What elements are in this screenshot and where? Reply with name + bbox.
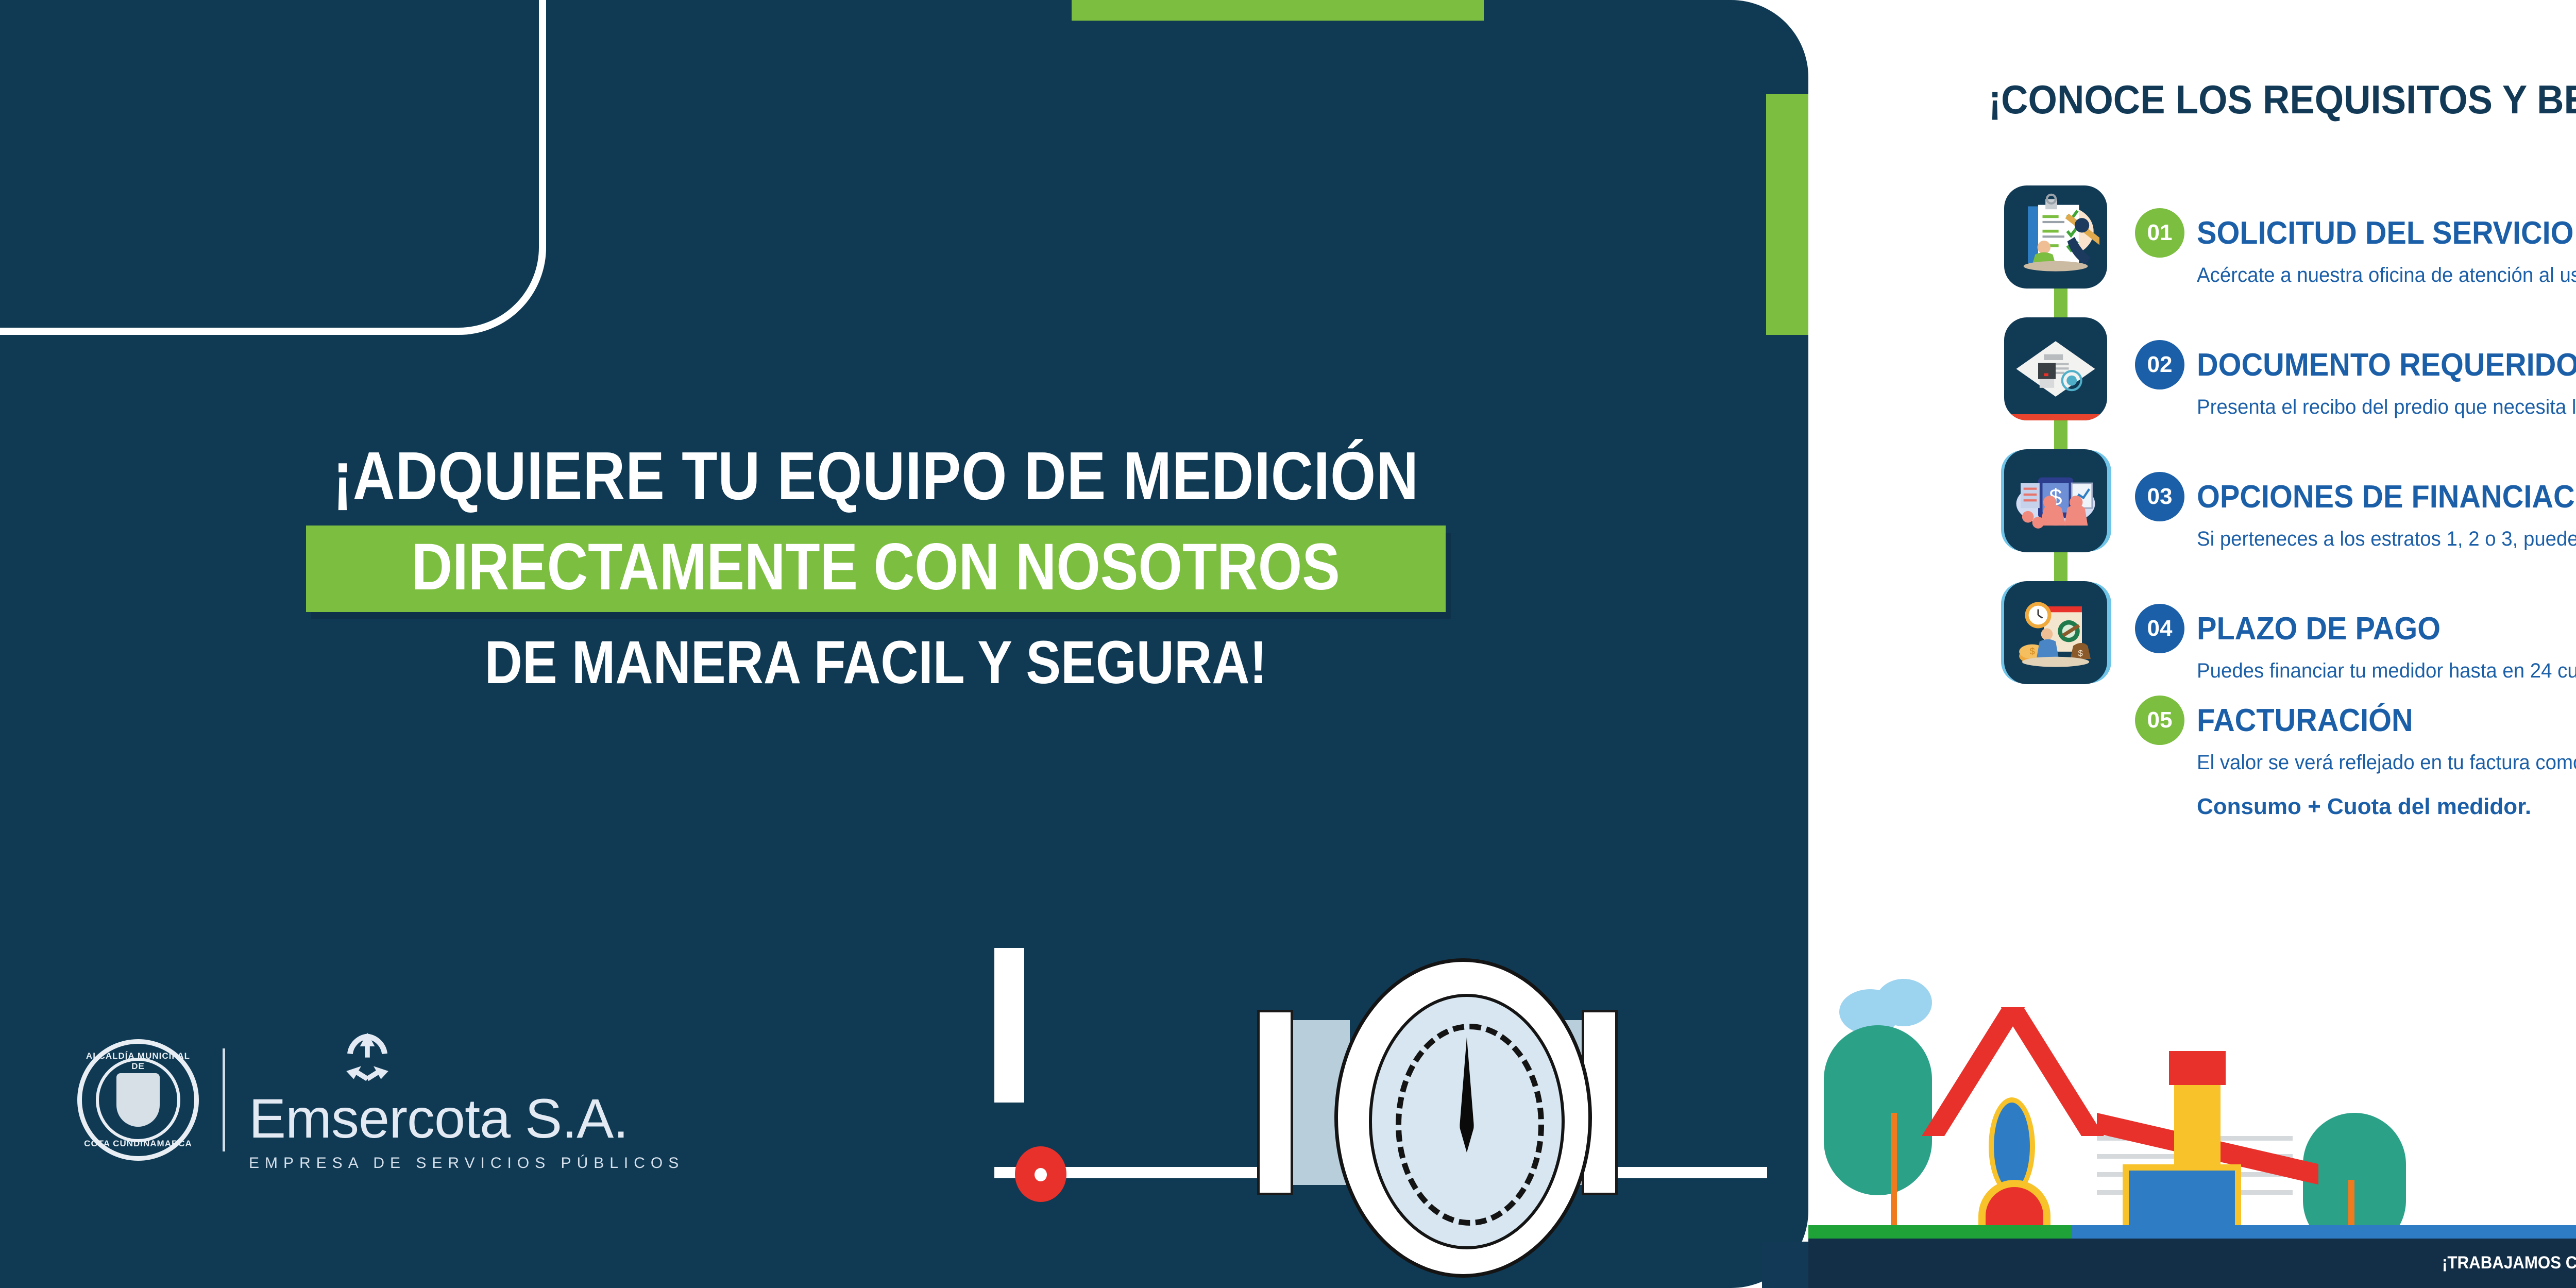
brand-name: Emsercota S.A.	[249, 1091, 684, 1146]
brand-block: Emsercota S.A. EMPRESA DE SERVICIOS PÚBL…	[249, 1028, 684, 1172]
step-text-column: 03 OPCIONES DE FINANCIACIÓN Si pertenece…	[2117, 449, 2576, 551]
step-title: FACTURACIÓN	[2197, 702, 2413, 739]
tree-left-icon	[1824, 1025, 1932, 1195]
step-thumb-column	[2004, 185, 2117, 317]
meter-dial	[1334, 958, 1592, 1278]
logo-divider	[223, 1048, 225, 1151]
step-title: PLAZO DE PAGO	[2197, 611, 2441, 647]
clipboard-checklist-icon	[2004, 185, 2107, 289]
step-item: 02 DOCUMENTO REQUERIDO Presenta el recib…	[2004, 317, 2576, 449]
requirements-title: ¡CONOCE LOS REQUISITOS Y BENEFICIOS DISP…	[1989, 76, 2576, 123]
step-title: OPCIONES DE FINANCIACIÓN	[2197, 479, 2576, 515]
chimney-cap	[2169, 1051, 2226, 1085]
step-description: Acércate a nuestra oficina de atención a…	[2197, 264, 2576, 287]
step-number-badge: 05	[2135, 696, 2184, 745]
step-thumb-column	[2004, 317, 2117, 449]
pipe-right	[1602, 1167, 1767, 1178]
step-header: 02 DOCUMENTO REQUERIDO	[2135, 340, 2576, 389]
municipality-seal-icon: ALCALDÍA MUNICIPAL DE COTA CUNDINAMARCA	[77, 1039, 199, 1161]
step-item: 01 SOLICITUD DEL SERVICIO Acércate a nue…	[2004, 185, 2576, 317]
brand-tagline: EMPRESA DE SERVICIOS PÚBLICOS	[249, 1155, 684, 1172]
seal-crest-icon	[116, 1073, 160, 1127]
corner-line-decoration	[0, 0, 546, 335]
step-header: 04 PLAZO DE PAGO	[2135, 604, 2576, 653]
banner-root: ¡ADQUIERE TU EQUIPO DE MEDICIÓN DIRECTAM…	[0, 0, 2576, 1288]
seal-top-text: ALCALDÍA MUNICIPAL DE	[82, 1051, 194, 1072]
footer-accent-blue	[2071, 1225, 2576, 1239]
step-connector	[2054, 420, 2067, 449]
cloud-shape	[1875, 979, 1932, 1026]
water-meter-illustration	[994, 948, 1767, 1288]
step-header: 03 OPCIONES DE FINANCIACIÓN	[2135, 472, 2576, 521]
headline-block: ¡ADQUIERE TU EQUIPO DE MEDICIÓN DIRECTAM…	[0, 440, 1752, 698]
step-header: 05 FACTURACIÓN	[2135, 696, 2576, 745]
footer-accent-green	[1808, 1225, 2071, 1239]
step-item: $ $ 04 PLAZO DE PAGO Puedes	[2004, 581, 2576, 684]
step-description: El valor se verá reflejado en tu factura…	[2197, 751, 2576, 774]
step-number-badge: 02	[2135, 340, 2184, 389]
step-description: Presenta el recibo del predio que necesi…	[2197, 396, 2576, 419]
step-text-column: 02 DOCUMENTO REQUERIDO Presenta el recib…	[2117, 317, 2576, 419]
side-green-accent	[1766, 94, 1808, 335]
step-description: Si perteneces a los estratos 1, 2 o 3, p…	[2197, 528, 2576, 551]
logo-lockup: ALCALDÍA MUNICIPAL DE COTA CUNDINAMARCA	[77, 1028, 684, 1172]
step-item: 05 FACTURACIÓN El valor se verá reflejad…	[2117, 684, 2576, 820]
top-green-accent	[1072, 0, 1484, 21]
step-connector	[2054, 289, 2067, 317]
step-description: Puedes financiar tu medidor hasta en 24 …	[2197, 659, 2576, 683]
meter-flange-outer-left	[994, 948, 1024, 1103]
step-title: DOCUMENTO REQUERIDO	[2197, 347, 2576, 383]
step-connector	[2054, 552, 2067, 581]
step-number-badge: 01	[2135, 208, 2184, 258]
headline-line-1: ¡ADQUIERE TU EQUIPO DE MEDICIÓN	[123, 440, 1629, 512]
step-thumb-column: $ $	[2004, 581, 2117, 684]
svg-text:$: $	[2078, 648, 2083, 658]
steps-list: 01 SOLICITUD DEL SERVICIO Acércate a nue…	[2004, 185, 2576, 820]
step-header: 01 SOLICITUD DEL SERVICIO	[2135, 208, 2576, 258]
footer-message: ¡TRABAJAMOS CONTINUAMENTE PARA BRINDAR U…	[2442, 1253, 2576, 1273]
step-title: SOLICITUD DEL SERVICIO	[2197, 215, 2574, 251]
step-number-badge: 03	[2135, 472, 2184, 521]
headline-line-3: DE MANERA FACIL Y SEGURA!	[123, 628, 1629, 698]
step-item: $	[2004, 449, 2576, 581]
stamped-document-icon	[2004, 317, 2107, 420]
step-thumb-column: $	[2004, 449, 2117, 581]
money-finance-icon: $	[2004, 449, 2107, 552]
svg-text:$: $	[2030, 646, 2035, 657]
step-text-column: 04 PLAZO DE PAGO Puedes financiar tu med…	[2117, 581, 2576, 683]
step-extra-note: Consumo + Cuota del medidor.	[2197, 794, 2576, 820]
step-number-badge: 04	[2135, 604, 2184, 653]
headline-highlight-box: DIRECTAMENTE CON NOSOTROS	[306, 526, 1445, 613]
meter-dial-face	[1369, 994, 1565, 1249]
headline-line-2: DIRECTAMENTE CON NOSOTROS	[412, 534, 1340, 601]
step-text-column: 01 SOLICITUD DEL SERVICIO Acércate a nue…	[2117, 185, 2576, 287]
valve-wheel-icon	[1015, 1146, 1066, 1202]
meter-flange-left	[1257, 1010, 1293, 1195]
left-hero-panel: ¡ADQUIERE TU EQUIPO DE MEDICIÓN DIRECTAM…	[0, 0, 1808, 1288]
seal-bottom-text: COTA CUNDINAMARCA	[82, 1139, 194, 1149]
recycle-arrows-icon	[336, 1028, 398, 1090]
clock-savings-icon: $ $	[2004, 581, 2107, 684]
